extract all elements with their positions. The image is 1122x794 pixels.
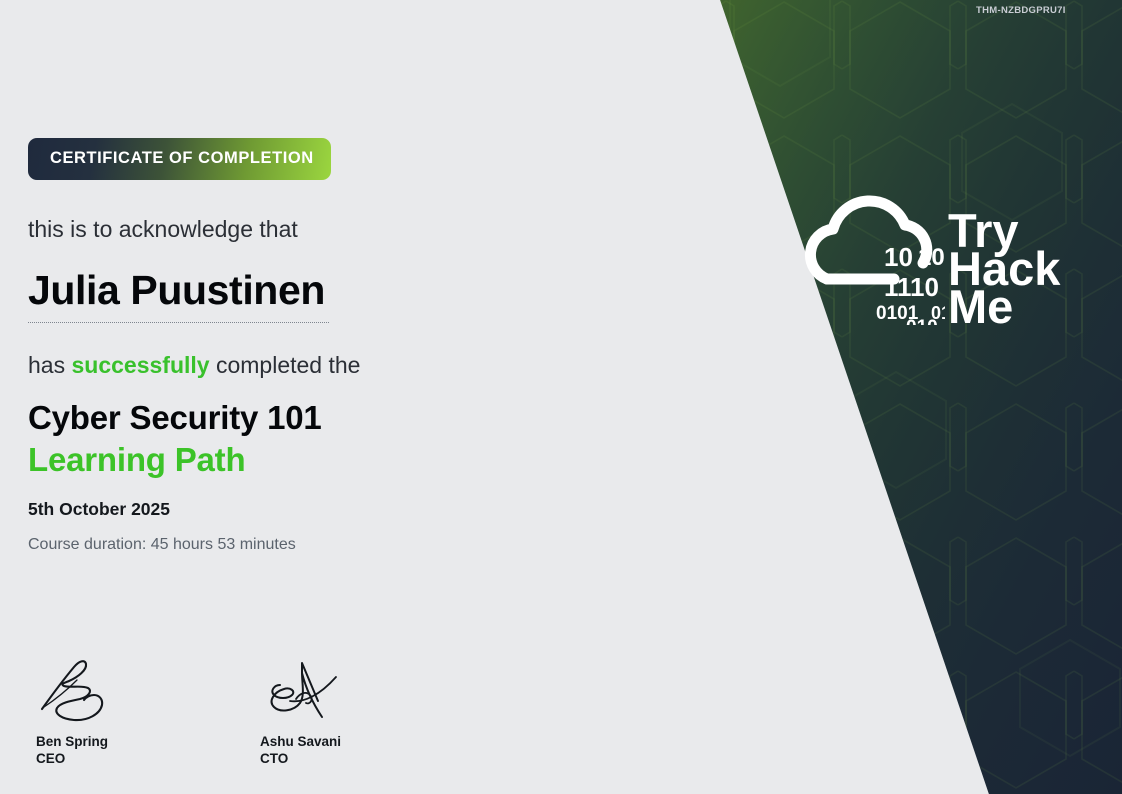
signature-block-ceo: Ben Spring CEO	[36, 655, 144, 767]
signature-block-cto: Ashu Savani CTO	[260, 655, 368, 767]
signature-mark-ashu-savani	[260, 655, 360, 729]
binary-row-1: 10	[884, 242, 913, 272]
issue-date: 5th October 2025	[28, 499, 588, 520]
signatory-name: Ashu Savani	[260, 733, 368, 750]
recipient-name: Julia Puustinen	[28, 268, 329, 323]
signatory-role: CEO	[36, 750, 144, 767]
completion-suffix: completed the	[210, 352, 361, 378]
course-duration: Course duration: 45 hours 53 minutes	[28, 535, 588, 554]
completion-accent: successfully	[71, 352, 209, 378]
signatory-name: Ben Spring	[36, 733, 144, 750]
tryhackme-logo: 10 10 1110 0101 01 01 010 01 Try Hack Me	[800, 183, 1072, 333]
signature-mark-ben-spring	[36, 655, 136, 729]
certificate-content: CERTIFICATE OF COMPLETION this is to ack…	[28, 138, 588, 554]
logo-wordmark: Try Hack Me	[948, 212, 1060, 326]
binary-row-1b: 10	[918, 244, 945, 271]
acknowledge-line: this is to acknowledge that	[28, 216, 588, 242]
hexagon-pattern	[610, 0, 1122, 794]
completion-line: has successfully completed the	[28, 352, 588, 378]
course-type: Learning Path	[28, 441, 588, 479]
cloud-binary-icon: 10 10 1110 0101 01 01 010 01	[800, 183, 945, 325]
certificate-canvas: THM-NZBDGPRU7I 10 10 1110 0101 01 01 010…	[0, 0, 1122, 794]
certificate-badge: CERTIFICATE OF COMPLETION	[28, 138, 331, 180]
binary-row-4b: 010	[906, 317, 938, 325]
binary-row-4: 01	[868, 323, 882, 325]
certificate-id: THM-NZBDGPRU7I	[976, 5, 1096, 17]
signatory-role: CTO	[260, 750, 368, 767]
binary-row-2: 1110	[884, 272, 939, 302]
decorative-panel	[610, 0, 1122, 794]
signature-area: Ben Spring CEO Ashu Savani CTO	[36, 655, 368, 767]
course-title: Cyber Security 101	[28, 399, 588, 437]
completion-prefix: has	[28, 352, 71, 378]
